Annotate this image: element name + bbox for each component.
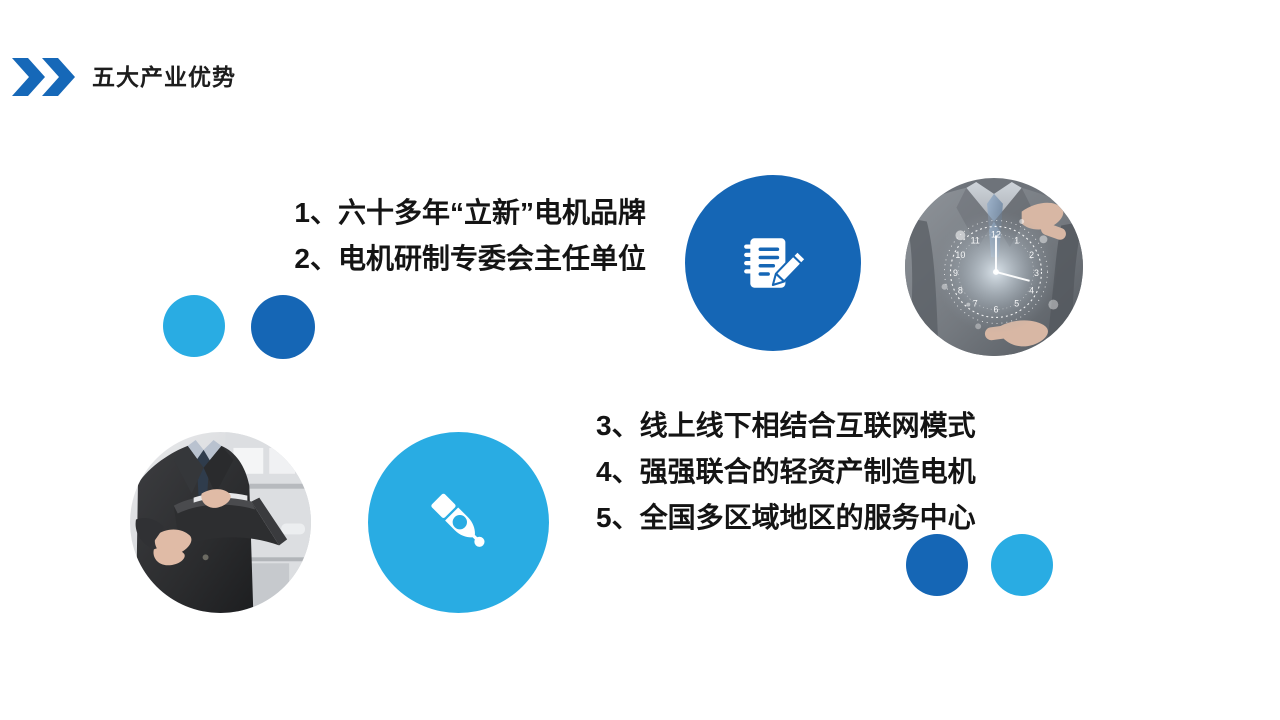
- svg-text:9: 9: [953, 268, 958, 278]
- accent-dot-dark-bottom-right: [906, 534, 968, 596]
- advantage-line-1: 1、六十多年“立新”电机品牌: [160, 190, 646, 236]
- pen-nib-icon: [422, 486, 496, 560]
- svg-text:7: 7: [973, 299, 978, 309]
- advantage-line-5: 5、全国多区域地区的服务中心: [596, 495, 976, 541]
- svg-text:10: 10: [955, 250, 965, 260]
- svg-text:8: 8: [958, 286, 963, 296]
- svg-text:11: 11: [971, 235, 980, 245]
- photo-businessman-clock: 12 1 2 3 4 5 6 7 8 9 10 11: [905, 178, 1083, 356]
- advantage-line-2: 2、电机研制专委会主任单位: [160, 236, 646, 282]
- page-title: 五大产业优势: [92, 66, 236, 89]
- double-chevron-right-icon: [12, 58, 78, 96]
- svg-text:2: 2: [1029, 250, 1034, 260]
- notepad-pencil-icon: [740, 230, 806, 296]
- svg-text:6: 6: [994, 304, 999, 314]
- slide-title-group: 五大产业优势: [12, 58, 236, 96]
- accent-dot-cyan-top-left: [163, 295, 225, 357]
- svg-text:12: 12: [991, 229, 1001, 239]
- notepad-icon-circle: [685, 175, 861, 351]
- slide-canvas: 五大产业优势 1、六十多年“立新”电机品牌 2、电机研制专委会主任单位 3、线上…: [0, 0, 1280, 720]
- svg-text:1: 1: [1014, 235, 1019, 245]
- svg-text:4: 4: [1029, 286, 1034, 296]
- advantages-text-bottom: 3、线上线下相结合互联网模式 4、强强联合的轻资产制造电机 5、全国多区域地区的…: [596, 403, 976, 541]
- accent-dot-cyan-bottom-right: [991, 534, 1053, 596]
- advantage-line-4: 4、强强联合的轻资产制造电机: [596, 449, 976, 495]
- advantages-text-top: 1、六十多年“立新”电机品牌 2、电机研制专委会主任单位: [160, 190, 646, 282]
- businessman-clock-illustration: 12 1 2 3 4 5 6 7 8 9 10 11: [905, 178, 1083, 356]
- advantage-line-3: 3、线上线下相结合互联网模式: [596, 403, 976, 449]
- accent-dot-dark-top-left: [251, 295, 315, 359]
- svg-text:3: 3: [1034, 268, 1039, 278]
- photo-businessman-folder: [130, 432, 311, 613]
- svg-text:5: 5: [1014, 299, 1019, 309]
- businessman-folder-illustration: [130, 432, 311, 613]
- pen-icon-circle: [368, 432, 549, 613]
